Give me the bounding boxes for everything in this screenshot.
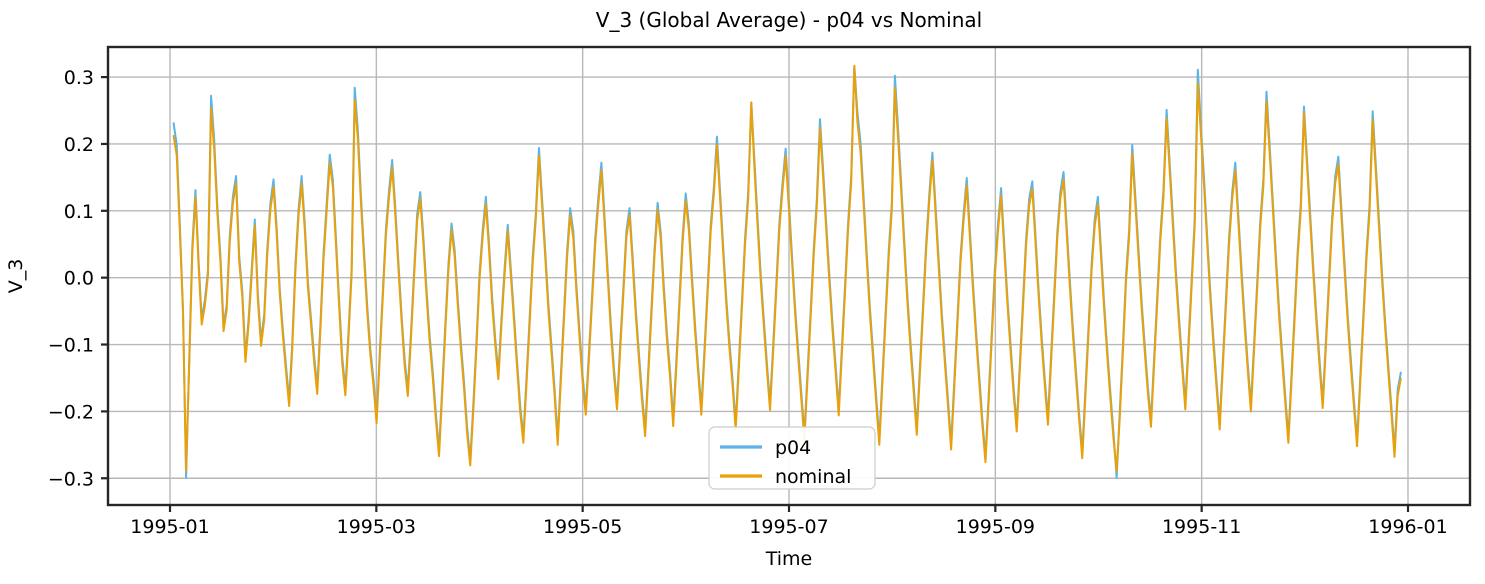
legend-label-p04: p04	[775, 437, 811, 459]
x-tick-label: 1995-01	[130, 516, 209, 538]
chart-legend[interactable]: p04 nominal	[709, 427, 875, 489]
chart-title: V_3 (Global Average) - p04 vs Nominal	[596, 8, 982, 32]
x-tick-label: 1995-07	[749, 516, 828, 538]
x-tick-label: 1996-01	[1368, 516, 1447, 538]
y-tick-label: 0.0	[64, 268, 94, 290]
line-chart: 1995-011995-031995-051995-071995-091995-…	[0, 0, 1485, 584]
chart-figure: 1995-011995-031995-051995-071995-091995-…	[0, 0, 1485, 584]
y-tick-label: −0.3	[48, 468, 94, 490]
x-tick-label: 1995-03	[337, 516, 416, 538]
y-tick-label: 0.2	[64, 134, 94, 156]
y-tick-label: 0.3	[64, 67, 94, 89]
y-tick-label: −0.1	[48, 335, 94, 357]
y-axis-label: V_3	[5, 259, 27, 294]
y-tick-label: 0.1	[64, 201, 94, 223]
x-axis-label: Time	[765, 548, 813, 570]
x-tick-label: 1995-09	[956, 516, 1035, 538]
y-tick-label: −0.2	[48, 401, 94, 423]
legend-label-nominal: nominal	[775, 466, 851, 488]
x-tick-label: 1995-11	[1162, 516, 1241, 538]
x-tick-label: 1995-05	[543, 516, 622, 538]
